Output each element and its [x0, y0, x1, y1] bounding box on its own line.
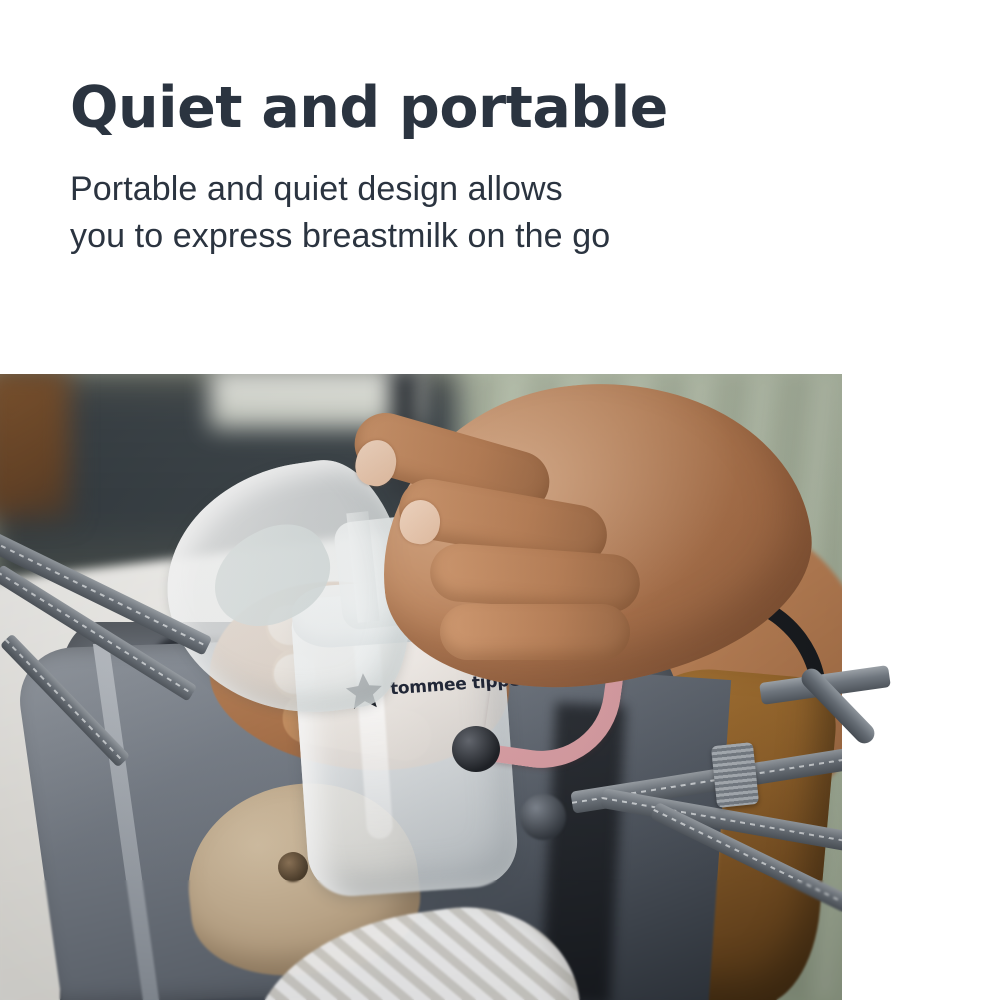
product-lifestyle-photo: tommee tippee [0, 374, 842, 1000]
marketing-image-canvas: Quiet and portable Portable and quiet de… [0, 0, 1000, 1000]
upper-hand-finger [440, 604, 630, 660]
diaper-bag-zipper-pull [520, 794, 566, 840]
page-subtitle: Portable and quiet design allows you to … [70, 166, 890, 260]
bag-strap-keeper [711, 742, 759, 808]
photo-frame: tommee tippee [0, 374, 842, 1000]
pump-valve [452, 726, 500, 772]
background-wood [0, 374, 70, 518]
text-block: Quiet and portable Portable and quiet de… [70, 78, 890, 260]
page-subtitle-line-2: you to express breastmilk on the go [70, 213, 890, 260]
page-subtitle-line-1: Portable and quiet design allows [70, 166, 890, 213]
page-title: Quiet and portable [70, 78, 890, 140]
pump-funnel-inner [198, 508, 346, 643]
